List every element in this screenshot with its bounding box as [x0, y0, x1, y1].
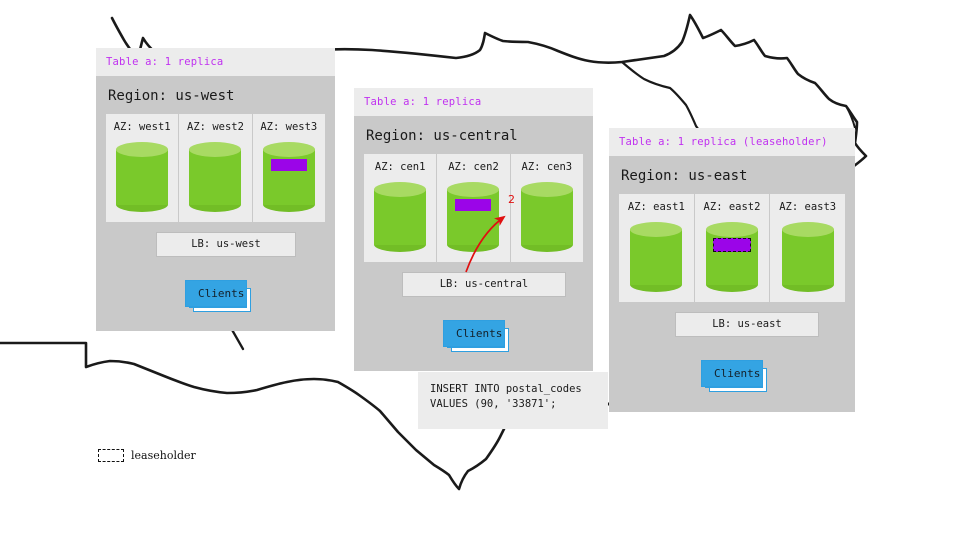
replication-arrow: [0, 0, 960, 540]
diagram-canvas: Table a: 1 replica Region: us-west AZ: w…: [0, 0, 960, 540]
